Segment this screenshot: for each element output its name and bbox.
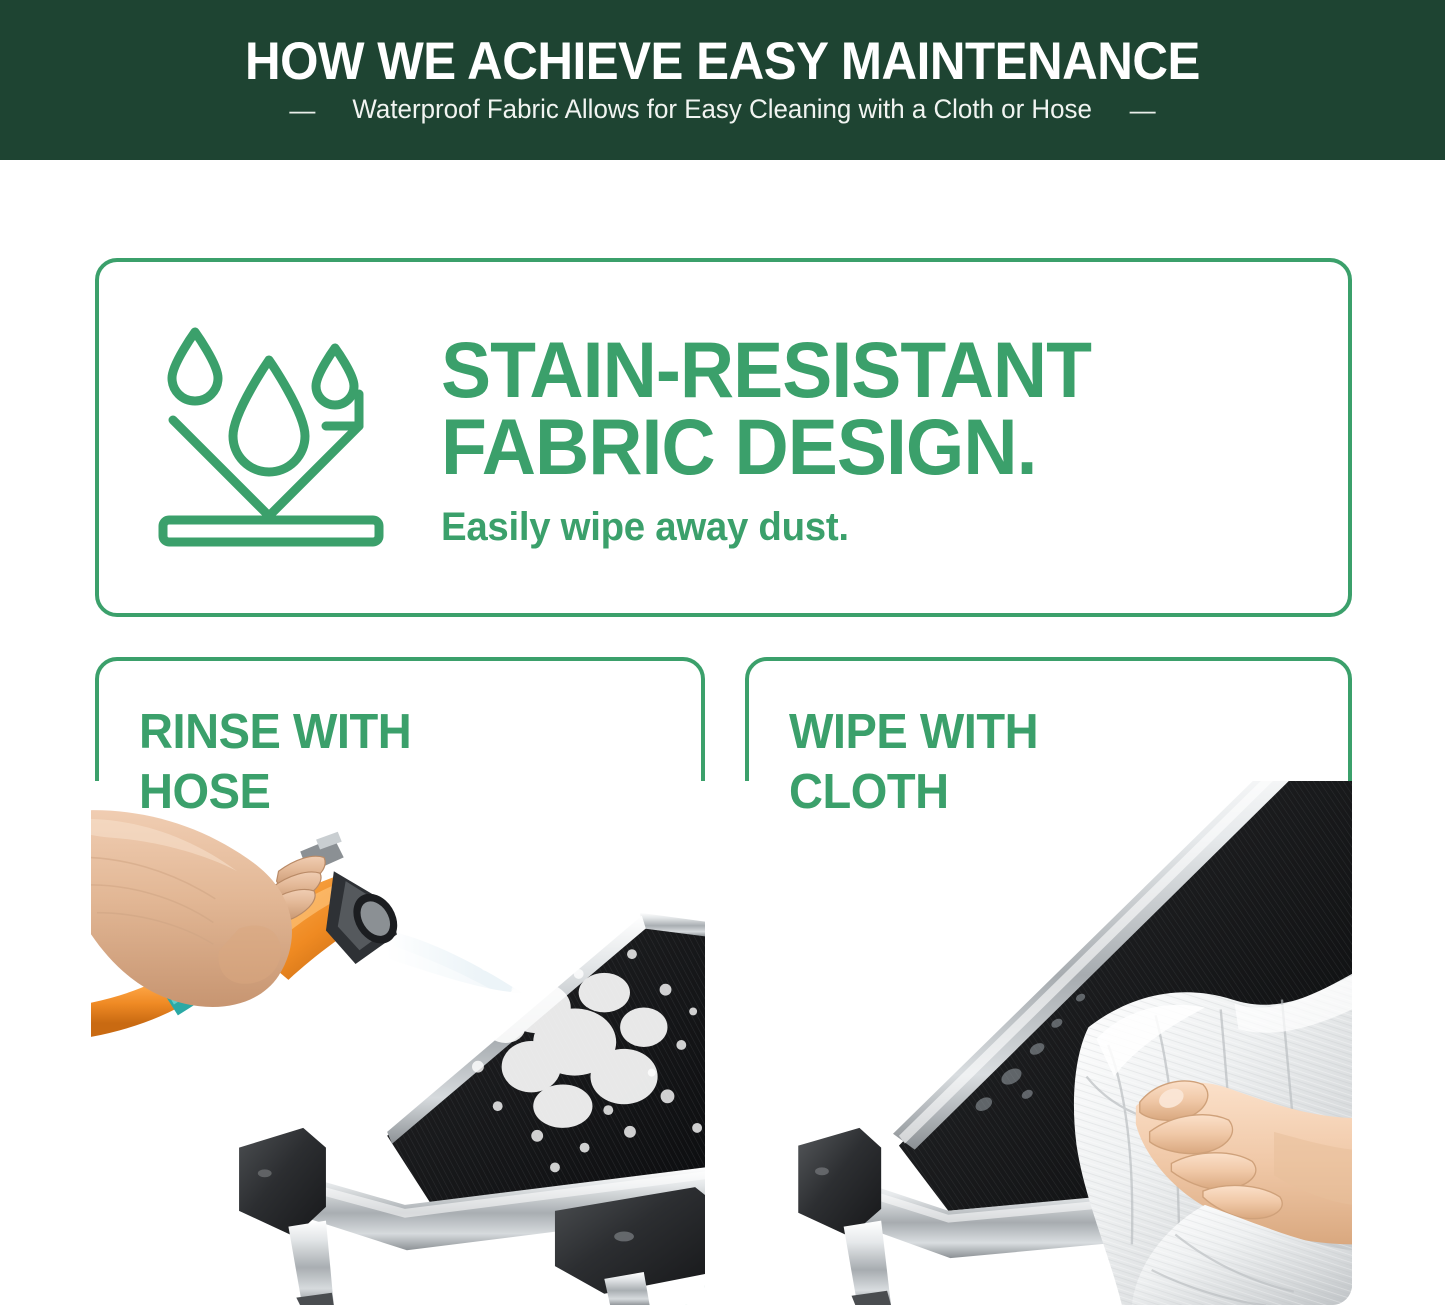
towel-and-hand: [1074, 974, 1352, 1305]
feature-subline: Easily wipe away dust.: [441, 505, 1273, 550]
page-header-banner: HOW WE ACHIEVE EASY MAINTENANCE — Waterp…: [0, 0, 1445, 160]
rinse-card-heading: RINSE WITH HOSE: [139, 703, 411, 823]
feature-card-stain-resistant: STAIN-RESISTANT FABRIC DESIGN. Easily wi…: [95, 258, 1352, 617]
rinse-with-hose-card: RINSE WITH HOSE: [95, 657, 705, 1305]
feature-headline-line1: STAIN-RESISTANT: [441, 331, 1265, 408]
wipe-with-cloth-card: WIPE WITH CLOTH: [745, 657, 1352, 1305]
water-repellent-fabric-icon: [147, 320, 397, 555]
rinse-photo: [91, 781, 705, 1305]
page-subtitle: Waterproof Fabric Allows for Easy Cleani…: [353, 94, 1093, 125]
page-subtitle-row: — Waterproof Fabric Allows for Easy Clea…: [289, 94, 1155, 125]
wipe-photo: [741, 781, 1352, 1305]
feature-text-block: STAIN-RESISTANT FABRIC DESIGN. Easily wi…: [441, 325, 1308, 551]
feature-headline-line2: FABRIC DESIGN.: [441, 408, 1265, 485]
wipe-card-heading: WIPE WITH CLOTH: [789, 703, 1038, 823]
subtitle-dash-right: —: [1130, 97, 1156, 123]
page-title: HOW WE ACHIEVE EASY MAINTENANCE: [245, 35, 1200, 88]
subtitle-dash-left: —: [289, 97, 315, 123]
